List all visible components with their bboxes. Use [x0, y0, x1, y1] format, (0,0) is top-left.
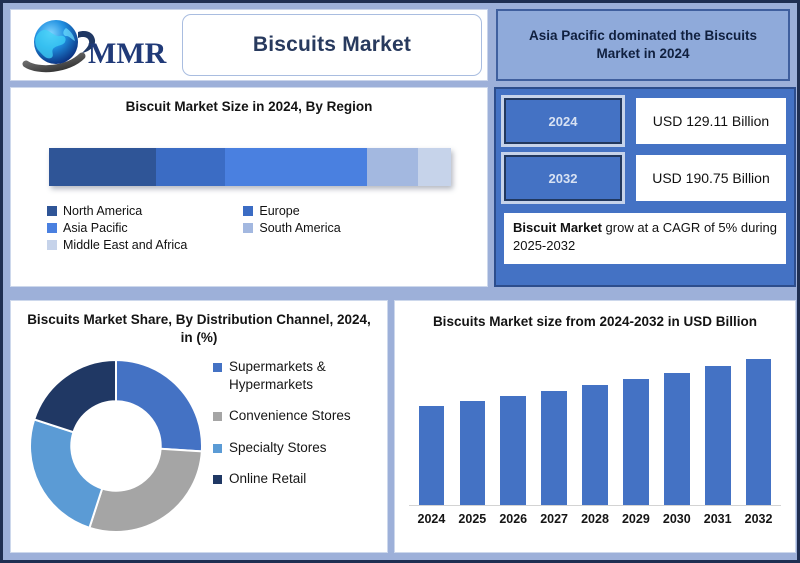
- forecast-panel-title: Biscuits Market size from 2024-2032 in U…: [409, 313, 781, 331]
- stat-year-badge: 2032: [504, 155, 622, 201]
- donut-chart: [26, 356, 206, 536]
- donut-legend: Supermarkets & HypermarketsConvenience S…: [211, 352, 377, 536]
- donut-slice: [30, 420, 102, 528]
- donut-legend-item: Online Retail: [213, 470, 377, 488]
- donut-slice: [116, 360, 202, 451]
- forecast-bar-column: [742, 345, 775, 505]
- cagr-text: Biscuit Market grow at a CAGR of 5% duri…: [513, 219, 777, 256]
- region-legend: North AmericaEuropeAsia PacificSouth Ame…: [23, 204, 475, 252]
- infographic-poster: MMR Biscuits Market Asia Pacific dominat…: [0, 0, 800, 563]
- forecast-bars: [409, 345, 781, 506]
- region-stacked-bar: [49, 148, 451, 186]
- forecast-bar-column: [619, 345, 652, 505]
- region-legend-label: Asia Pacific: [63, 221, 128, 235]
- legend-swatch-icon: [213, 363, 222, 372]
- forecast-bar: [705, 366, 731, 504]
- market-stat-row: 2024USD 129.11 Billion: [501, 95, 789, 147]
- region-legend-item: South America: [243, 221, 340, 235]
- forecast-bar: [746, 359, 772, 504]
- stat-value-label: USD 190.75 Billion: [652, 170, 770, 186]
- mmr-logo: MMR: [14, 13, 174, 77]
- stat-year-label: 2024: [549, 114, 578, 129]
- forecast-bar: [460, 401, 486, 504]
- distribution-channel-panel: Biscuits Market Share, By Distribution C…: [10, 300, 388, 553]
- legend-swatch-icon: [213, 475, 222, 484]
- forecast-year-label: 2031: [701, 512, 734, 526]
- donut-legend-label: Convenience Stores: [229, 407, 351, 425]
- market-stats-rows: 2024USD 129.11 Billion2032USD 190.75 Bil…: [501, 95, 789, 204]
- stat-value-label: USD 129.11 Billion: [653, 113, 769, 129]
- region-stacked-bar-wrap: [23, 148, 475, 186]
- legend-swatch-icon: [47, 206, 57, 216]
- forecast-bar-column: [701, 345, 734, 505]
- legend-swatch-icon: [243, 223, 253, 233]
- stat-value-box: USD 190.75 Billion: [636, 155, 786, 201]
- stat-value-box: USD 129.11 Billion: [636, 98, 786, 144]
- stat-year-label: 2032: [549, 171, 578, 186]
- header-highlight-box: Asia Pacific dominated the Biscuits Mark…: [496, 9, 790, 81]
- region-legend-label: Europe: [259, 204, 299, 218]
- donut-slice: [89, 449, 201, 532]
- forecast-bar: [500, 396, 526, 504]
- globe-swoosh-logo-icon: MMR: [20, 16, 168, 74]
- cagr-bold-text: Biscuit Market: [513, 220, 602, 235]
- donut-legend-label: Supermarkets & Hypermarkets: [229, 358, 377, 393]
- region-panel-title: Biscuit Market Size in 2024, By Region: [23, 98, 475, 116]
- market-stat-row: 2032USD 190.75 Billion: [501, 152, 789, 204]
- region-segment: [225, 148, 367, 186]
- forecast-year-label: 2029: [619, 512, 652, 526]
- forecast-bar: [541, 391, 567, 505]
- forecast-bar: [582, 385, 608, 505]
- donut-legend-item: Supermarkets & Hypermarkets: [213, 358, 377, 393]
- legend-swatch-icon: [213, 412, 222, 421]
- legend-swatch-icon: [47, 223, 57, 233]
- region-legend-item: Europe: [243, 204, 340, 218]
- forecast-year-label: 2032: [742, 512, 775, 526]
- cagr-box: Biscuit Market grow at a CAGR of 5% duri…: [504, 213, 786, 264]
- stat-year-badge: 2024: [504, 98, 622, 144]
- region-legend-label: North America: [63, 204, 142, 218]
- forecast-axis-labels: 202420252026202720282029203020312032: [409, 506, 781, 526]
- forecast-bar-column: [497, 345, 530, 505]
- region-panel: Biscuit Market Size in 2024, By Region N…: [10, 87, 488, 287]
- region-legend-label: Middle East and Africa: [63, 238, 187, 252]
- donut-slice: [34, 360, 116, 432]
- legend-swatch-icon: [213, 444, 222, 453]
- header: MMR Biscuits Market Asia Pacific dominat…: [10, 9, 790, 81]
- donut-legend-item: Convenience Stores: [213, 407, 377, 425]
- forecast-bar-column: [579, 345, 612, 505]
- donut-panel-title: Biscuits Market Share, By Distribution C…: [21, 311, 377, 346]
- poster-title: Biscuits Market: [182, 14, 482, 76]
- header-brand-bar: MMR Biscuits Market: [10, 9, 488, 81]
- forecast-bar: [664, 373, 690, 505]
- region-segment: [418, 148, 451, 186]
- logo-wordmark: MMR: [88, 37, 167, 70]
- forecast-bar-column: [456, 345, 489, 505]
- poster-title-text: Biscuits Market: [253, 33, 411, 57]
- region-legend-item: North America: [47, 204, 187, 218]
- market-stats-panel: 2024USD 129.11 Billion2032USD 190.75 Bil…: [494, 87, 796, 287]
- forecast-bar-column: [660, 345, 693, 505]
- forecast-bar-column: [415, 345, 448, 505]
- forecast-bar: [419, 406, 445, 504]
- region-segment: [367, 148, 418, 186]
- donut-chart-holder: [21, 352, 211, 536]
- forecast-year-label: 2026: [497, 512, 530, 526]
- donut-body: Supermarkets & HypermarketsConvenience S…: [21, 352, 377, 536]
- forecast-panel: Biscuits Market size from 2024-2032 in U…: [394, 300, 796, 553]
- region-segment: [156, 148, 226, 186]
- region-legend-item: Middle East and Africa: [47, 238, 187, 252]
- header-highlight-text: Asia Pacific dominated the Biscuits Mark…: [508, 27, 778, 63]
- forecast-year-label: 2024: [415, 512, 448, 526]
- forecast-year-label: 2030: [660, 512, 693, 526]
- forecast-year-label: 2025: [456, 512, 489, 526]
- region-legend-item: Asia Pacific: [47, 221, 187, 235]
- donut-legend-label: Online Retail: [229, 470, 306, 488]
- donut-legend-item: Specialty Stores: [213, 439, 377, 457]
- legend-swatch-icon: [243, 206, 253, 216]
- donut-legend-label: Specialty Stores: [229, 439, 327, 457]
- region-segment: [49, 148, 156, 186]
- legend-swatch-icon: [47, 240, 57, 250]
- forecast-bar-column: [538, 345, 571, 505]
- forecast-year-label: 2028: [579, 512, 612, 526]
- forecast-year-label: 2027: [538, 512, 571, 526]
- region-legend-label: South America: [259, 221, 340, 235]
- forecast-bar: [623, 379, 649, 505]
